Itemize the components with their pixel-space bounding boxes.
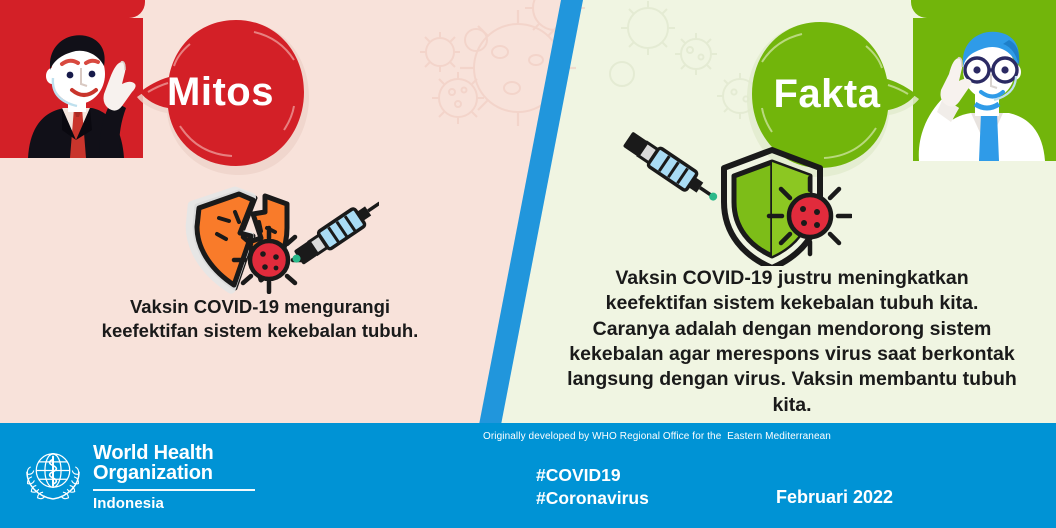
who-name-line-1: World Health	[93, 443, 255, 463]
hashtag-block: #COVID19 #Coronavirus	[536, 464, 649, 511]
publication-date: Februari 2022	[776, 487, 893, 508]
who-emblem-icon	[22, 442, 84, 504]
fact-character-panel	[913, 18, 1056, 161]
broken-shield-illustration	[183, 186, 379, 294]
hashtag-covid19: #COVID19	[536, 464, 649, 487]
myth-badge-label: Mitos	[167, 72, 274, 112]
infographic-poster: Mitos Fakta	[0, 0, 1056, 528]
intact-shield-illustration	[612, 126, 852, 266]
footer-bar: World Health Organization Indonesia Orig…	[0, 423, 1056, 528]
myth-character-panel	[0, 18, 143, 158]
fact-description: Vaksin COVID-19 justru meningkatkan keef…	[566, 266, 1018, 418]
who-wordmark: World Health Organization Indonesia	[93, 442, 255, 512]
myth-description: Vaksin COVID-19 mengurangi keefektifan s…	[80, 295, 440, 343]
attribution-text: Originally developed by WHO Regional Off…	[483, 431, 831, 442]
fact-badge-label: Fakta	[774, 74, 881, 114]
who-name-line-2: Organization	[93, 463, 255, 483]
who-divider-rule	[93, 489, 255, 491]
who-country-label: Indonesia	[93, 495, 255, 512]
top-left-red-banner	[0, 0, 145, 18]
who-logo: World Health Organization Indonesia	[22, 442, 255, 512]
hashtag-coronavirus: #Coronavirus	[536, 487, 649, 510]
top-right-green-banner	[911, 0, 1056, 18]
myth-badge: Mitos	[148, 22, 293, 162]
doctor-pointing-up-illustration	[913, 18, 1056, 161]
man-pointing-up-illustration	[0, 18, 143, 158]
